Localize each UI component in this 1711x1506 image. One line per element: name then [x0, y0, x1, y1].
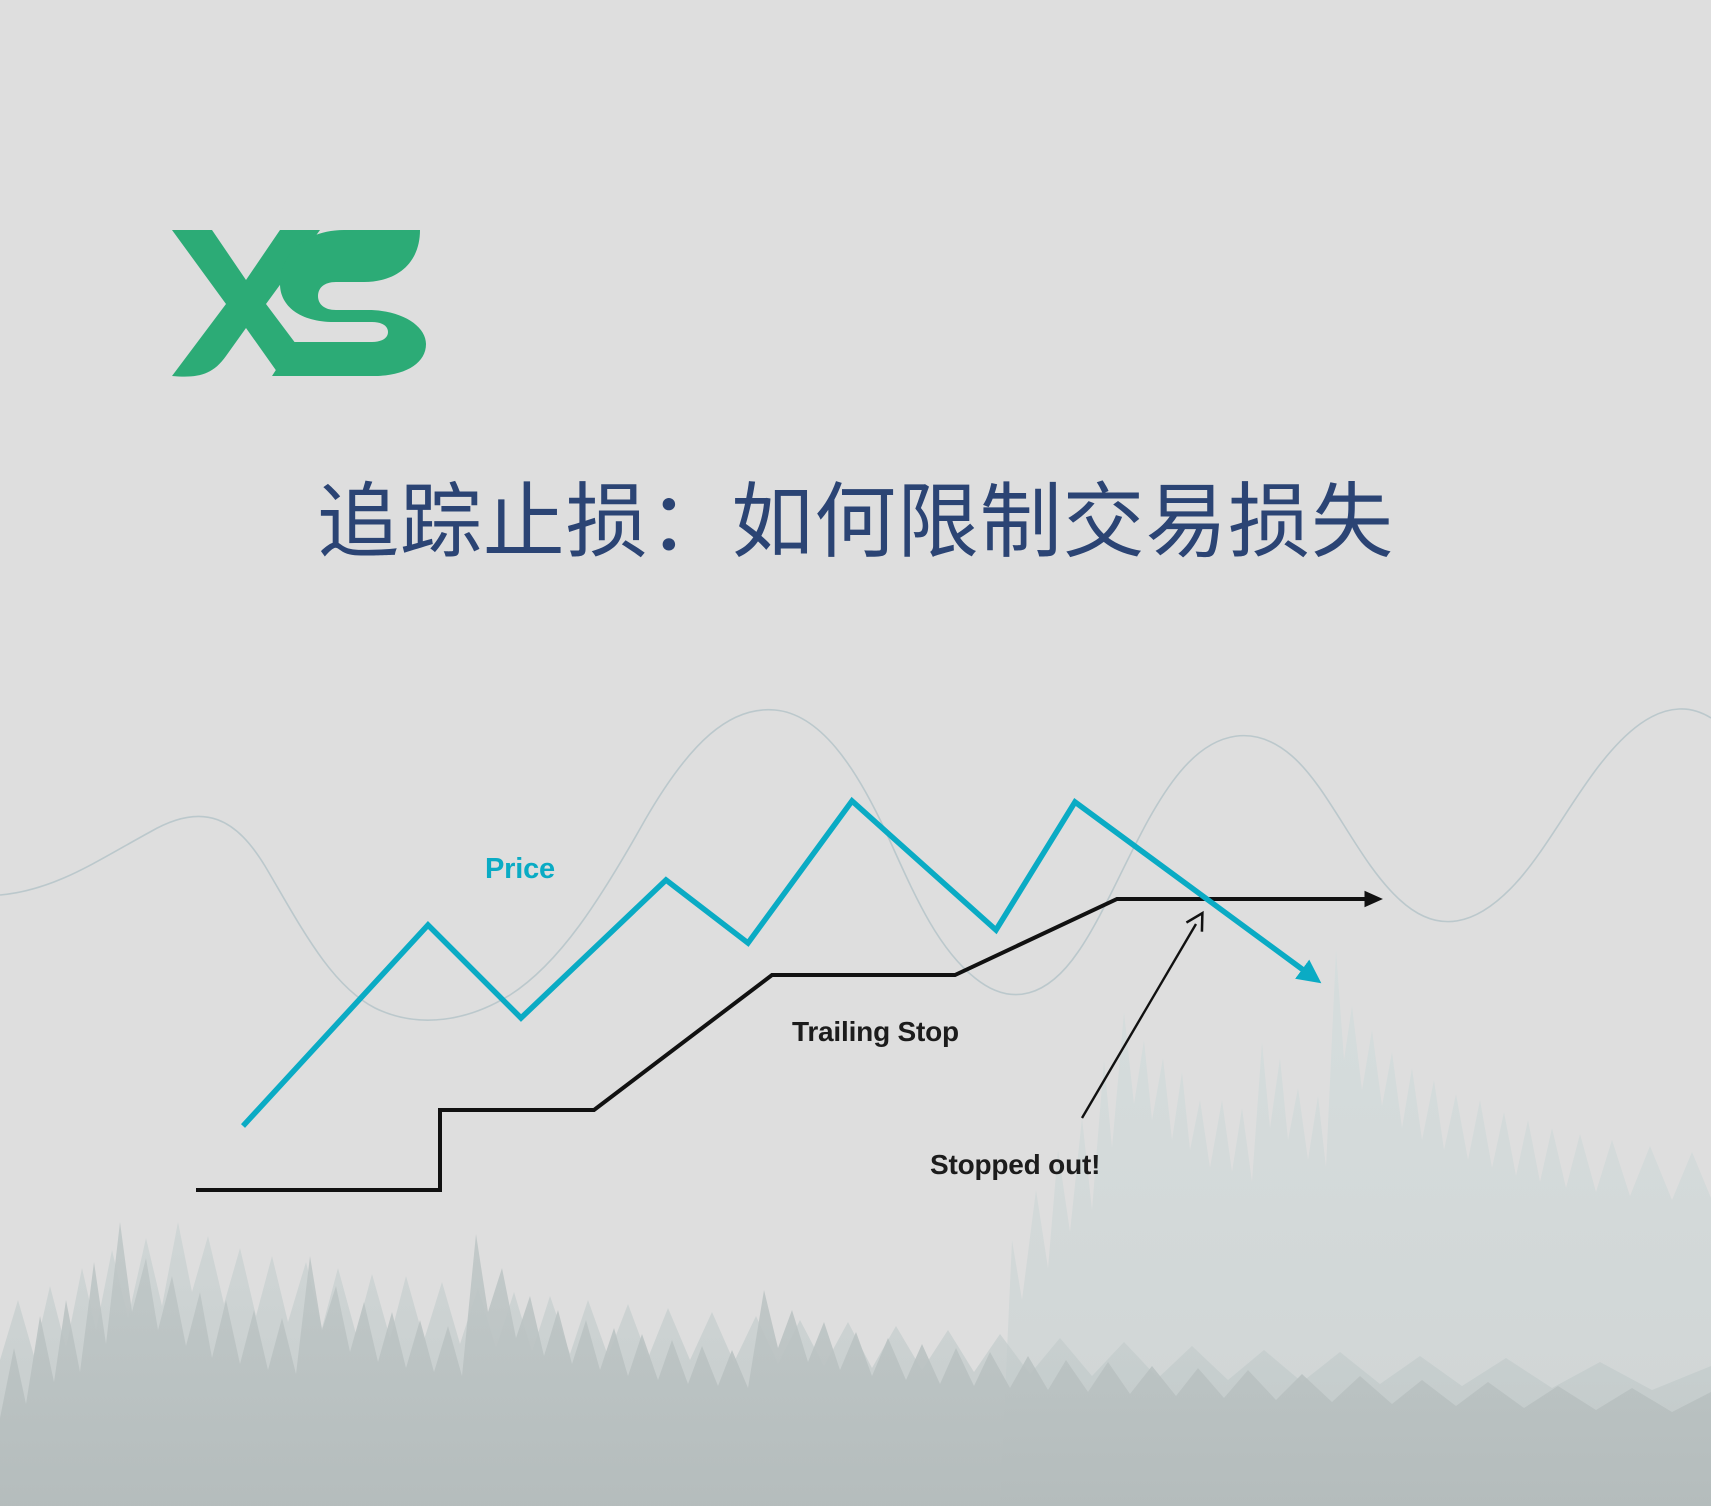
page-title: 追踪止损：如何限制交易损失	[0, 479, 1711, 568]
stopped-out-arrow	[1082, 924, 1196, 1118]
price-line	[243, 801, 1306, 1126]
xs-logo: XS	[168, 228, 428, 378]
mountain-far-shape	[1000, 950, 1711, 1506]
background-wave-icon	[0, 709, 1711, 1020]
price-line-group	[243, 801, 1306, 1126]
trailing-stop-line	[196, 899, 1368, 1190]
mountain-range-far	[1000, 950, 1711, 1506]
mountain-range-near	[0, 1222, 1711, 1506]
price-label: Price	[485, 853, 555, 886]
stopped-out-label: Stopped out!	[930, 1149, 1100, 1181]
mountain-range-mid	[0, 1222, 1711, 1506]
background-artwork	[0, 0, 1711, 1506]
background-wave-group	[0, 709, 1711, 1020]
trailing-stop-label: Trailing Stop	[792, 1016, 959, 1048]
stopped-out-callout-group	[1082, 924, 1196, 1118]
trailing-stop-line-group	[196, 899, 1368, 1190]
poster-canvas: XS 追踪止损：如何限制交易损失 Price Trailing Stop Sto…	[0, 0, 1711, 1506]
mountain-mid-shape	[0, 1222, 1711, 1506]
xs-logo-s-glyph	[272, 230, 426, 376]
mountain-near-shape	[0, 1222, 1711, 1506]
